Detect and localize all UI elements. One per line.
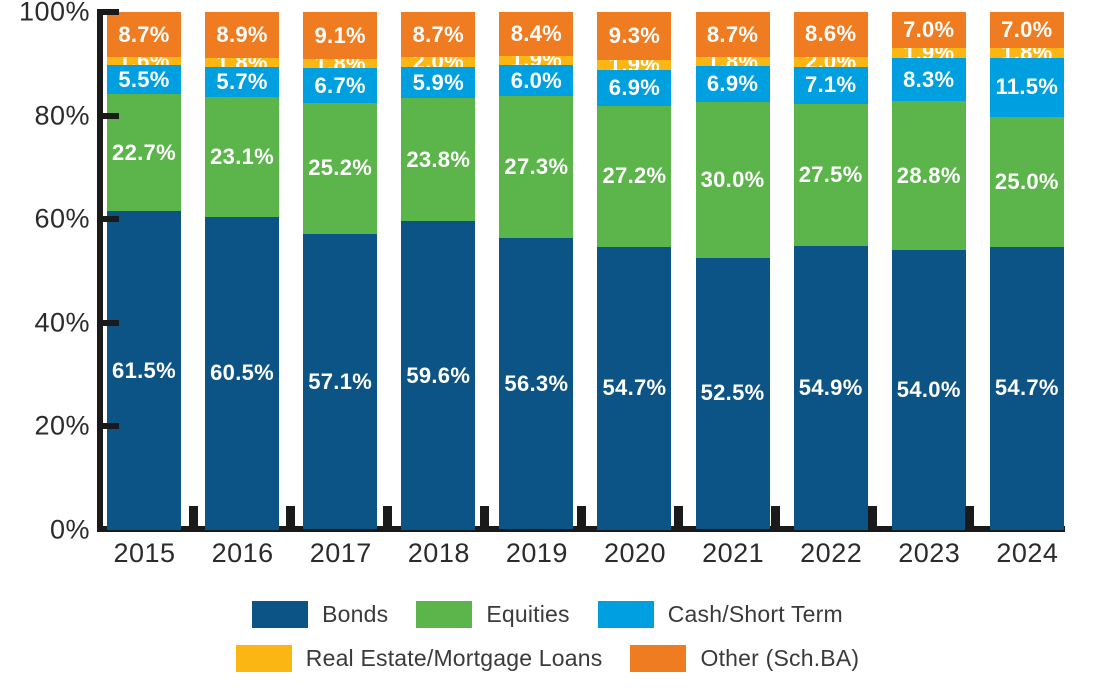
bar-segment-label: 1.8% — [707, 57, 758, 66]
bar-segment-label: 30.0% — [701, 169, 765, 191]
bar-segment[interactable]: 1.8% — [303, 59, 377, 68]
bar-segment[interactable]: 5.9% — [401, 67, 475, 98]
bar-segment-label: 2.0% — [805, 57, 856, 67]
bar-segment-label: 1.9% — [511, 56, 562, 66]
bar-segment[interactable]: 1.8% — [205, 58, 279, 67]
bar-segment-label: 54.7% — [995, 377, 1059, 399]
bar-segment-label: 27.3% — [504, 156, 568, 178]
y-axis-tick-label: 80% — [34, 100, 90, 131]
x-axis-tick-mark — [868, 506, 877, 530]
x-axis-label-2019: 2019 — [499, 538, 574, 582]
bar-segment[interactable]: 8.7% — [107, 12, 181, 57]
x-axis-label-2022: 2022 — [794, 538, 869, 582]
bar-segment-label: 6.7% — [315, 75, 366, 97]
bar-segment-label: 8.4% — [511, 23, 562, 45]
bar-segment[interactable]: 28.8% — [892, 101, 966, 250]
bar-segment-label: 7.0% — [1001, 19, 1052, 41]
bar-segment[interactable]: 6.9% — [597, 70, 671, 106]
bar-segment-label: 8.7% — [413, 24, 464, 46]
bar-segment-label: 1.8% — [216, 58, 267, 67]
bar-segment[interactable]: 6.7% — [303, 68, 377, 103]
bar-segment-label: 56.3% — [504, 373, 568, 395]
y-axis-tick-label: 0% — [50, 515, 90, 546]
bar-segment-label: 57.1% — [308, 371, 372, 393]
bar-segment[interactable]: 2.0% — [401, 57, 475, 67]
y-axis-tick-mark — [97, 423, 119, 429]
legend-label: Cash/Short Term — [668, 601, 843, 628]
bar-segment[interactable]: 1.8% — [990, 48, 1064, 57]
bar-segment[interactable]: 7.0% — [892, 12, 966, 48]
bar-segment-label: 7.1% — [805, 74, 856, 96]
bar-segment[interactable]: 5.5% — [107, 65, 181, 93]
legend-item[interactable]: Other (Sch.BA) — [630, 645, 859, 672]
bar-segment[interactable]: 27.3% — [499, 96, 573, 237]
bar-segment[interactable]: 7.1% — [794, 67, 868, 104]
x-axis-label-2020: 2020 — [597, 538, 672, 582]
bar-segment-label: 27.5% — [799, 164, 863, 186]
y-axis-tick-mark — [97, 216, 119, 222]
bar-segment-label: 1.9% — [903, 48, 954, 58]
y-axis-tick-mark — [97, 320, 119, 326]
bar-segment-label: 9.3% — [609, 25, 660, 47]
bar-segment[interactable]: 57.1% — [303, 234, 377, 530]
bar-segment-label: 25.2% — [308, 157, 372, 179]
legend-item[interactable]: Cash/Short Term — [598, 601, 843, 628]
x-axis-label-2018: 2018 — [401, 538, 476, 582]
bar-segment-label: 22.7% — [112, 142, 176, 164]
x-axis-labels: 2015201620172018201920202021202220232024 — [107, 538, 1065, 582]
bar-segment-label: 5.7% — [216, 71, 267, 93]
x-axis-tick-mark — [965, 506, 974, 530]
bar-segment[interactable]: 6.9% — [696, 66, 770, 102]
bar-segment-label: 6.9% — [707, 73, 758, 95]
legend-item[interactable]: Bonds — [252, 601, 388, 628]
bar-segment-label: 23.1% — [210, 146, 274, 168]
bar-segment-label: 23.8% — [406, 149, 470, 171]
bar-segment[interactable]: 61.5% — [107, 211, 181, 530]
legend-swatch — [236, 645, 292, 672]
legend-row: Real Estate/Mortgage LoansOther (Sch.BA) — [0, 636, 1095, 680]
y-axis-line — [97, 10, 103, 532]
bar-segment[interactable]: 27.2% — [597, 106, 671, 247]
bar-segment[interactable]: 60.5% — [205, 217, 279, 530]
bar-segment[interactable]: 8.4% — [499, 12, 573, 56]
bar-segment[interactable]: 11.5% — [990, 58, 1064, 118]
bar-2024[interactable]: 7.0%1.8%11.5%25.0%54.7% — [990, 12, 1065, 530]
bar-segment-label: 8.3% — [903, 69, 954, 91]
x-axis-tick-mark — [286, 506, 295, 530]
bar-segment-label: 59.6% — [406, 365, 470, 387]
bar-segment[interactable]: 54.9% — [794, 246, 868, 530]
x-axis-tick-mark — [189, 506, 198, 530]
bar-segment[interactable]: 23.8% — [401, 98, 475, 221]
bar-segment[interactable]: 1.8% — [696, 57, 770, 66]
legend-swatch — [630, 645, 686, 672]
bar-segment-label: 7.0% — [903, 19, 954, 41]
bar-segment[interactable]: 1.9% — [892, 48, 966, 58]
bar-segment[interactable]: 9.3% — [597, 12, 671, 60]
bar-2022[interactable]: 8.6%2.0%7.1%27.5%54.9% — [794, 12, 869, 530]
bar-segment[interactable]: 2.0% — [794, 57, 868, 67]
bar-segment[interactable]: 54.7% — [597, 247, 671, 530]
legend-label: Bonds — [322, 601, 388, 628]
x-axis-label-2016: 2016 — [205, 538, 280, 582]
legend-label: Other (Sch.BA) — [700, 645, 859, 672]
bar-segment-label: 61.5% — [112, 360, 176, 382]
bar-segment-label: 8.7% — [118, 24, 169, 46]
bar-segment-label: 11.5% — [996, 76, 1059, 98]
bar-segment[interactable]: 56.3% — [499, 238, 573, 530]
legend-swatch — [416, 601, 472, 628]
legend-swatch — [252, 601, 308, 628]
bar-segment[interactable]: 1.9% — [597, 60, 671, 70]
chart-legend: BondsEquitiesCash/Short TermReal Estate/… — [0, 592, 1095, 688]
x-axis-label-2024: 2024 — [990, 538, 1065, 582]
bar-segment[interactable]: 52.5% — [696, 258, 770, 530]
bar-segment[interactable]: 5.7% — [205, 67, 279, 97]
bar-segment-label: 27.2% — [603, 165, 667, 187]
bar-segment-label: 8.6% — [805, 23, 856, 45]
bar-segment-label: 5.5% — [118, 69, 169, 91]
bar-segment[interactable]: 59.6% — [401, 221, 475, 530]
bar-segment-label: 28.8% — [897, 165, 961, 187]
bar-segment-label: 8.7% — [707, 24, 758, 46]
bar-2018[interactable]: 8.7%2.0%5.9%23.8%59.6% — [401, 12, 476, 530]
y-axis-tick-mark — [97, 9, 119, 15]
y-axis-tick-label: 20% — [34, 411, 90, 442]
bar-segment[interactable]: 23.1% — [205, 97, 279, 217]
bar-segment[interactable]: 8.7% — [401, 12, 475, 57]
legend-item[interactable]: Equities — [416, 601, 569, 628]
bar-segment-label: 6.0% — [511, 70, 562, 92]
bar-segment[interactable]: 8.6% — [794, 12, 868, 57]
bar-segment[interactable]: 27.5% — [794, 104, 868, 246]
bar-segment-label: 54.0% — [897, 379, 961, 401]
bar-segment-label: 1.8% — [315, 59, 366, 68]
bar-segment[interactable]: 54.0% — [892, 250, 966, 530]
bar-2017[interactable]: 9.1%1.8%6.7%25.2%57.1% — [303, 12, 378, 530]
legend-item[interactable]: Real Estate/Mortgage Loans — [236, 645, 603, 672]
y-axis-tick-label: 40% — [34, 307, 90, 338]
bar-segment[interactable]: 8.9% — [205, 12, 279, 58]
x-axis-tick-mark — [383, 506, 392, 530]
x-axis-label-2015: 2015 — [107, 538, 182, 582]
bar-segment-label: 1.9% — [609, 60, 660, 70]
legend-swatch — [598, 601, 654, 628]
x-axis-tick-mark — [771, 506, 780, 530]
bar-segment[interactable]: 25.2% — [303, 103, 377, 234]
bar-segment[interactable]: 1.9% — [499, 56, 573, 66]
bar-segment-label: 5.9% — [413, 72, 464, 94]
bar-2019[interactable]: 8.4%1.9%6.0%27.3%56.3% — [499, 12, 574, 530]
bar-segment[interactable]: 54.7% — [990, 247, 1064, 530]
legend-label: Real Estate/Mortgage Loans — [306, 645, 603, 672]
bar-group: 8.7%1.6%5.5%22.7%61.5%8.9%1.8%5.7%23.1%6… — [107, 12, 1065, 530]
x-axis-label-2017: 2017 — [303, 538, 378, 582]
x-axis-tick-mark — [577, 506, 586, 530]
bar-segment[interactable]: 8.7% — [696, 12, 770, 57]
bar-segment[interactable]: 22.7% — [107, 94, 181, 212]
bar-segment[interactable]: 7.0% — [990, 12, 1064, 48]
plot-area: 100%80%60%40%20%0% 8.7%1.6%5.5%22.7%61.5… — [0, 0, 1095, 580]
bar-segment-label: 1.8% — [1001, 48, 1052, 57]
bar-segment[interactable]: 9.1% — [303, 12, 377, 59]
bar-2016[interactable]: 8.9%1.8%5.7%23.1%60.5% — [205, 12, 280, 530]
x-axis-tick-mark — [480, 506, 489, 530]
bar-segment-label: 1.6% — [118, 57, 169, 65]
y-axis-tick-mark — [97, 113, 119, 119]
bar-segment-label: 52.5% — [701, 382, 765, 404]
bar-segment-label: 6.9% — [609, 77, 660, 99]
bar-2023[interactable]: 7.0%1.9%8.3%28.8%54.0% — [892, 12, 967, 530]
bar-2015[interactable]: 8.7%1.6%5.5%22.7%61.5% — [107, 12, 182, 530]
stacked-bar-chart: 100%80%60%40%20%0% 8.7%1.6%5.5%22.7%61.5… — [0, 0, 1095, 688]
bar-2020[interactable]: 9.3%1.9%6.9%27.2%54.7% — [597, 12, 672, 530]
bar-segment-label: 54.7% — [603, 377, 667, 399]
bar-segment-label: 2.0% — [413, 57, 464, 67]
legend-row: BondsEquitiesCash/Short Term — [0, 592, 1095, 636]
bar-segment[interactable]: 25.0% — [990, 117, 1064, 247]
y-axis-tick-label: 60% — [34, 204, 90, 235]
y-axis-labels: 100%80%60%40%20%0% — [0, 0, 90, 580]
y-axis-tick-label: 100% — [19, 0, 90, 28]
x-axis-label-2023: 2023 — [892, 538, 967, 582]
bar-segment-label: 9.1% — [315, 25, 366, 47]
bar-2021[interactable]: 8.7%1.8%6.9%30.0%52.5% — [696, 12, 771, 530]
legend-label: Equities — [486, 601, 569, 628]
bar-segment[interactable]: 1.6% — [107, 57, 181, 65]
bar-segment-label: 8.9% — [216, 24, 267, 46]
bar-segment[interactable]: 6.0% — [499, 65, 573, 96]
bar-segment[interactable]: 30.0% — [696, 102, 770, 257]
bar-segment[interactable]: 8.3% — [892, 58, 966, 101]
bar-segment-label: 60.5% — [210, 362, 274, 384]
x-axis-label-2021: 2021 — [696, 538, 771, 582]
bar-segment-label: 25.0% — [995, 171, 1059, 193]
bar-segment-label: 54.9% — [799, 377, 863, 399]
x-axis-tick-mark — [674, 506, 683, 530]
